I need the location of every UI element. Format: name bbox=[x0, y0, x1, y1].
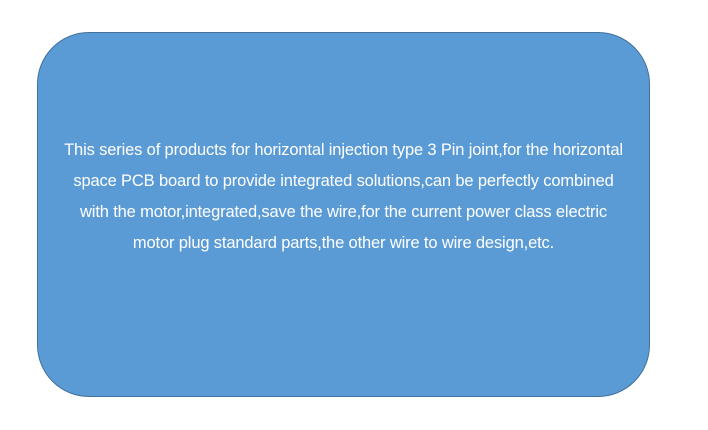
product-description-text: This series of products for horizontal i… bbox=[64, 135, 624, 259]
product-description-callout: This series of products for horizontal i… bbox=[37, 32, 650, 397]
page-canvas: This series of products for horizontal i… bbox=[0, 0, 708, 430]
